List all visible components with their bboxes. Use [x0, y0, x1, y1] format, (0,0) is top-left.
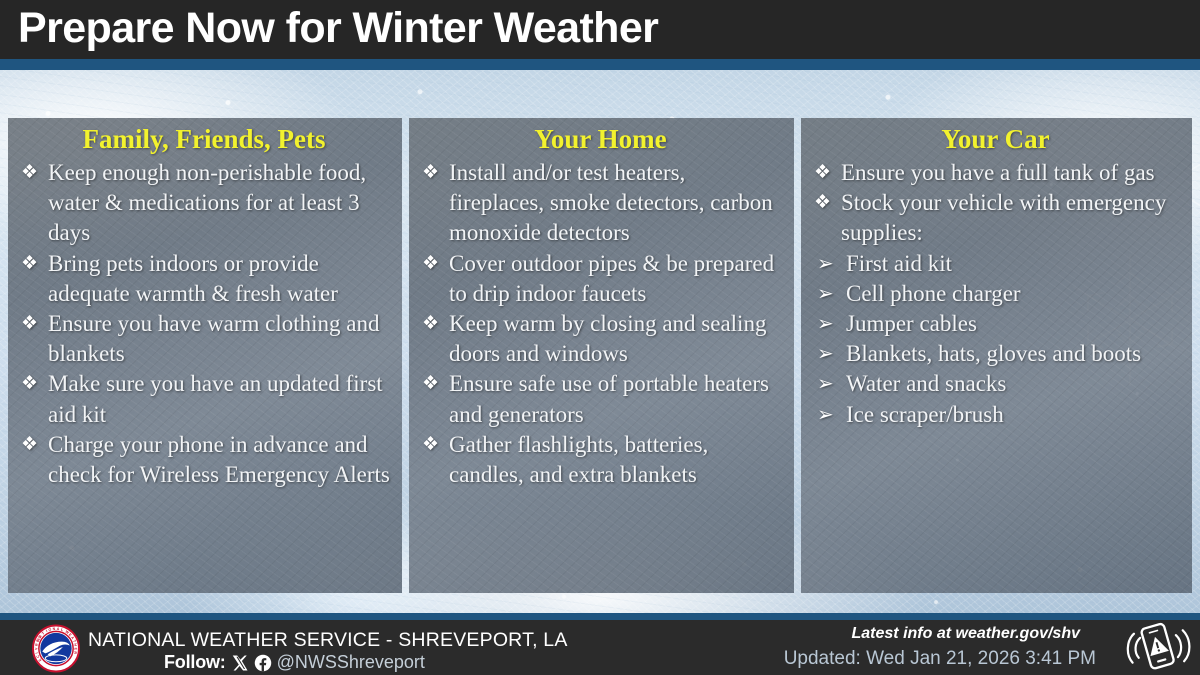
list-item: ❖ Install and/or test heaters, fireplace…	[417, 158, 784, 249]
updated-timestamp: Updated: Wed Jan 21, 2026 3:41 PM	[784, 648, 1096, 670]
diamond-bullet-icon: ❖	[21, 158, 38, 188]
tips-list-family-friends-pets: ❖ Keep enough non-perishable food, water…	[16, 158, 392, 490]
follow-row: Follow: @NWSShreveport	[164, 652, 425, 673]
tips-list-your-home: ❖ Install and/or test heaters, fireplace…	[417, 158, 784, 490]
diamond-bullet-icon: ❖	[21, 369, 38, 399]
arrow-bullet-icon: ➢	[817, 249, 834, 279]
panel-your-home: Your Home ❖ Install and/or test heaters,…	[409, 118, 794, 593]
diamond-bullet-icon: ❖	[422, 369, 439, 399]
page-title: Prepare Now for Winter Weather	[0, 7, 658, 50]
facebook-icon[interactable]	[254, 654, 272, 672]
header-accent-bar	[0, 59, 1200, 70]
diamond-bullet-icon: ❖	[21, 249, 38, 279]
arrow-bullet-icon: ➢	[817, 369, 834, 399]
list-item: ❖ Bring pets indoors or provide adequate…	[16, 249, 392, 309]
panel-heading-your-car: Your Car	[809, 124, 1182, 155]
nws-seal-logo: N A T I O N A L W E A T H E R S E R V I …	[30, 624, 82, 673]
title-bar: Prepare Now for Winter Weather	[0, 0, 1200, 59]
latest-info-text: Latest info at weather.gov/shv	[852, 625, 1081, 643]
arrow-bullet-icon: ➢	[817, 309, 834, 339]
list-item: ❖ Cover outdoor pipes & be prepared to d…	[417, 249, 784, 309]
diamond-bullet-icon: ❖	[814, 188, 831, 218]
footer-accent-bar	[0, 613, 1200, 620]
wireless-emergency-alert-icon	[1122, 620, 1194, 675]
list-item-text: Keep warm by closing and sealing doors a…	[449, 311, 766, 366]
list-item-text: Cover outdoor pipes & be prepared to dri…	[449, 251, 774, 306]
sub-list-item: ➢ First aid kit	[809, 249, 1182, 279]
diamond-bullet-icon: ❖	[422, 158, 439, 188]
diamond-bullet-icon: ❖	[21, 430, 38, 460]
list-item: ❖ Stock your vehicle with emergency supp…	[809, 188, 1182, 248]
office-name: NATIONAL WEATHER SERVICE - SHREVEPORT, L…	[88, 629, 568, 652]
sub-list-item-text: Ice scraper/brush	[846, 402, 1004, 427]
list-item-text: Charge your phone in advance and check f…	[48, 432, 390, 487]
diamond-bullet-icon: ❖	[422, 430, 439, 460]
list-item: ❖ Keep enough non-perishable food, water…	[16, 158, 392, 249]
panel-heading-family-friends-pets: Family, Friends, Pets	[16, 124, 392, 155]
list-item: ❖ Ensure you have a full tank of gas	[809, 158, 1182, 188]
list-item-text: Gather flashlights, batteries, candles, …	[449, 432, 708, 487]
sub-list-item: ➢ Cell phone charger	[809, 279, 1182, 309]
list-item: ❖ Ensure you have warm clothing and blan…	[16, 309, 392, 369]
diamond-bullet-icon: ❖	[814, 158, 831, 188]
list-item-text: Ensure you have a full tank of gas	[841, 160, 1155, 185]
list-item: ❖ Ensure safe use of portable heaters an…	[417, 369, 784, 429]
list-item-text: Keep enough non-perishable food, water &…	[48, 160, 366, 245]
panel-heading-your-home: Your Home	[417, 124, 784, 155]
panel-family-friends-pets: Family, Friends, Pets ❖ Keep enough non-…	[8, 118, 402, 593]
arrow-bullet-icon: ➢	[817, 279, 834, 309]
sub-list-item-text: Water and snacks	[846, 371, 1006, 396]
sub-list-item-text: Jumper cables	[846, 311, 977, 336]
sub-list-item: ➢ Ice scraper/brush	[809, 400, 1182, 430]
list-item-text: Install and/or test heaters, fireplaces,…	[449, 160, 773, 245]
list-item-text: Make sure you have an updated first aid …	[48, 371, 383, 426]
arrow-bullet-icon: ➢	[817, 400, 834, 430]
list-item-text: Stock your vehicle with emergency suppli…	[841, 190, 1166, 245]
arrow-bullet-icon: ➢	[817, 339, 834, 369]
sub-list-item-text: Blankets, hats, gloves and boots	[846, 341, 1141, 366]
list-item-text: Bring pets indoors or provide adequate w…	[48, 251, 338, 306]
tips-list-your-car: ❖ Ensure you have a full tank of gas ❖ S…	[809, 158, 1182, 249]
supplies-sublist-your-car: ➢ First aid kit ➢ Cell phone charger ➢ J…	[809, 249, 1182, 430]
sub-list-item-text: First aid kit	[846, 251, 952, 276]
sub-list-item-text: Cell phone charger	[846, 281, 1021, 306]
diamond-bullet-icon: ❖	[21, 309, 38, 339]
sub-list-item: ➢ Jumper cables	[809, 309, 1182, 339]
x-twitter-icon[interactable]	[231, 654, 249, 672]
sub-list-item: ➢ Blankets, hats, gloves and boots	[809, 339, 1182, 369]
follow-label: Follow:	[164, 652, 226, 673]
list-item: ❖ Keep warm by closing and sealing doors…	[417, 309, 784, 369]
diamond-bullet-icon: ❖	[422, 249, 439, 279]
list-item-text: Ensure safe use of portable heaters and …	[449, 371, 769, 426]
list-item: ❖ Gather flashlights, batteries, candles…	[417, 430, 784, 490]
list-item: ❖ Make sure you have an updated first ai…	[16, 369, 392, 429]
panel-your-car: Your Car ❖ Ensure you have a full tank o…	[801, 118, 1192, 593]
tips-panel-group: Family, Friends, Pets ❖ Keep enough non-…	[8, 118, 1192, 593]
list-item-text: Ensure you have warm clothing and blanke…	[48, 311, 380, 366]
sub-list-item: ➢ Water and snacks	[809, 369, 1182, 399]
social-handle[interactable]: @NWSShreveport	[277, 652, 425, 673]
diamond-bullet-icon: ❖	[422, 309, 439, 339]
list-item: ❖ Charge your phone in advance and check…	[16, 430, 392, 490]
